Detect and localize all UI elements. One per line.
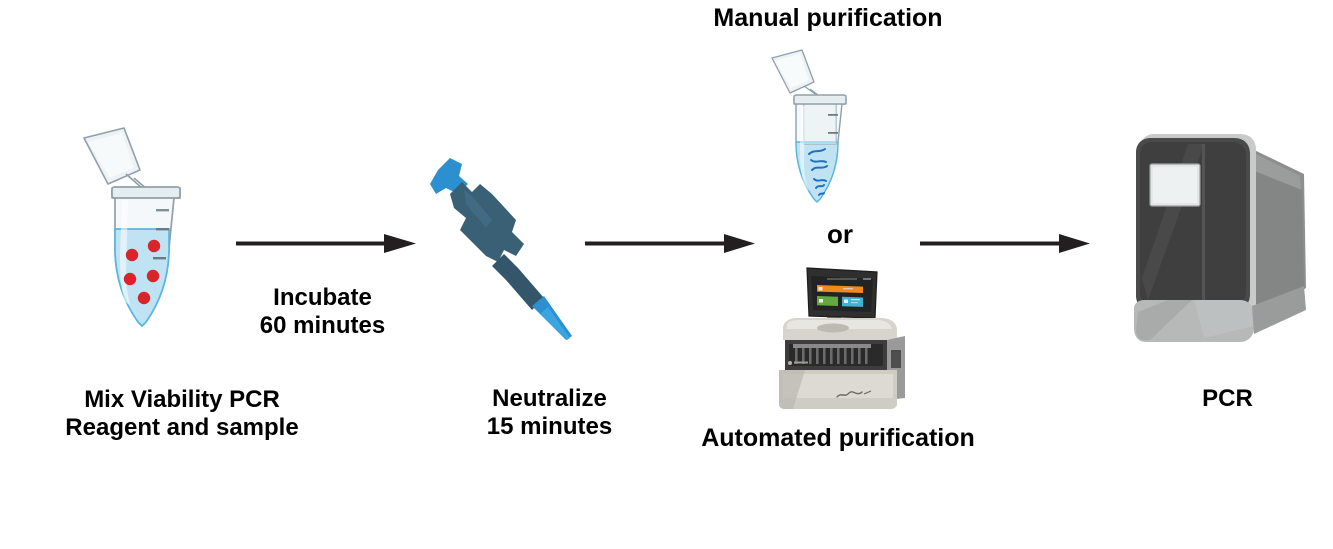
or-label: or	[740, 219, 940, 250]
neutralize-label: Neutralize15 minutes	[432, 385, 667, 442]
incubate-label: Incubate60 minutes	[205, 284, 440, 341]
automated-purification-instrument-icon	[765, 258, 915, 413]
neutralize-line1: Neutralize	[492, 385, 607, 412]
incubate-line2: 60 minutes	[260, 312, 385, 339]
workflow-diagram: Incubate60 minutes Mix Viability PCRReag…	[0, 0, 1333, 549]
micropipette-icon	[420, 150, 605, 340]
mix-reagent-label: Mix Viability PCRReagent and sample	[12, 386, 352, 443]
mix-reagent-line2: Reagent and sample	[65, 414, 298, 441]
microcentrifuge-tube-with-red-cells-icon	[68, 126, 218, 351]
arrow-right-incubate	[236, 230, 416, 260]
mix-reagent-line1: Mix Viability PCR	[84, 386, 280, 413]
arrow-right-to-purification	[585, 230, 755, 260]
neutralize-line2: 15 minutes	[487, 413, 612, 440]
spin-column-tube-with-dna-icon	[762, 48, 877, 213]
pcr-thermocycler-icon	[1128, 128, 1318, 358]
automated-purification-label: Automated purification	[638, 424, 1038, 454]
manual-purification-label: Manual purification	[638, 4, 1018, 34]
pcr-label: PCR	[1135, 385, 1320, 413]
incubate-line1: Incubate	[273, 284, 372, 311]
arrow-right-to-pcr	[920, 230, 1090, 260]
